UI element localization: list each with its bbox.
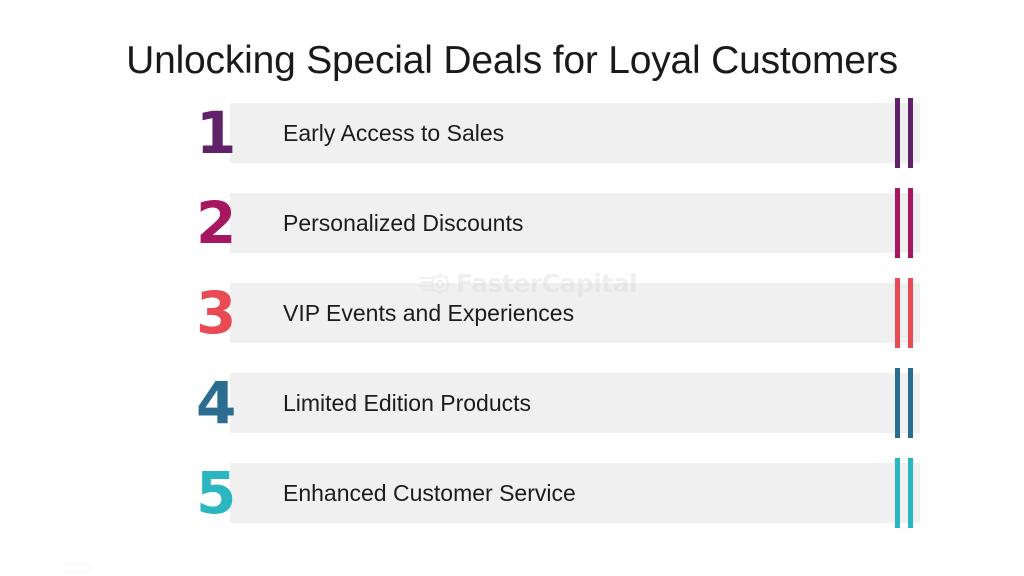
list-item[interactable]: 1 Early Access to Sales (0, 103, 1024, 163)
list-item-label: Early Access to Sales (283, 103, 504, 163)
accent-bar-right (908, 458, 913, 528)
list-item[interactable]: 5 Enhanced Customer Service (0, 463, 1024, 523)
list-item-label: VIP Events and Experiences (283, 283, 574, 343)
background-artifact (64, 562, 92, 574)
list-item-accent-bars (895, 368, 925, 438)
page-title: Unlocking Special Deals for Loyal Custom… (0, 36, 1024, 86)
list-item-number: 1 (196, 97, 256, 169)
list-item-number: 3 (196, 277, 256, 349)
list-item-accent-bars (895, 188, 925, 258)
list-item-label: Limited Edition Products (283, 373, 531, 433)
accent-bar-right (908, 278, 913, 348)
accent-bar-left (895, 278, 900, 348)
accent-bar-right (908, 368, 913, 438)
list-item[interactable]: 3 VIP Events and Experiences (0, 283, 1024, 343)
list-item-accent-bars (895, 98, 925, 168)
list-item-number: 5 (196, 457, 256, 529)
accent-bar-left (895, 458, 900, 528)
list-item-number: 4 (196, 367, 256, 439)
list-item-label: Enhanced Customer Service (283, 463, 576, 523)
list-item-number: 2 (196, 187, 256, 259)
accent-bar-right (908, 98, 913, 168)
list-item[interactable]: 2 Personalized Discounts (0, 193, 1024, 253)
list-item[interactable]: 4 Limited Edition Products (0, 373, 1024, 433)
accent-bar-left (895, 368, 900, 438)
list-item-accent-bars (895, 458, 925, 528)
accent-bar-left (895, 188, 900, 258)
accent-bar-right (908, 188, 913, 258)
accent-bar-left (895, 98, 900, 168)
numbered-list: 1 Early Access to Sales 2 Personalized D… (0, 103, 1024, 523)
list-item-label: Personalized Discounts (283, 193, 523, 253)
list-item-accent-bars (895, 278, 925, 348)
